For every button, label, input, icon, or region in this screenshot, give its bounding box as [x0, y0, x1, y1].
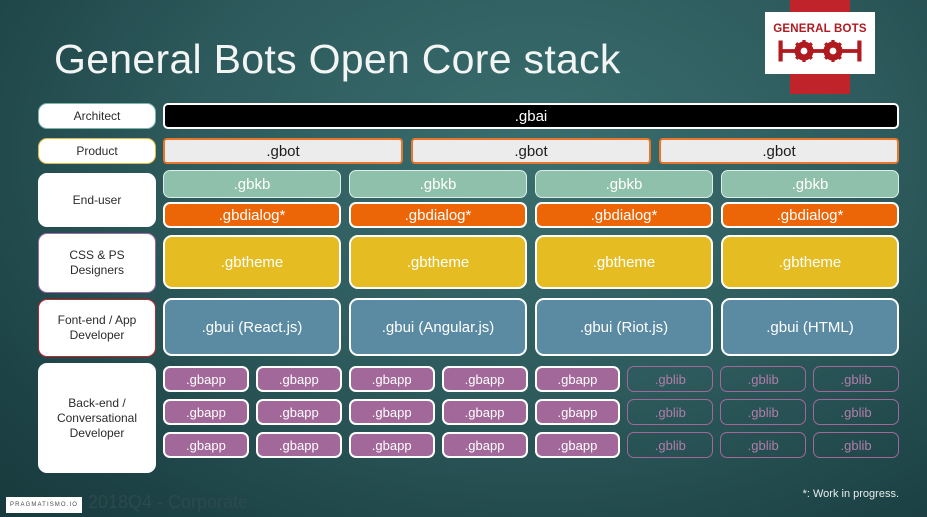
- gblib-cell-r3-c7[interactable]: .gblib: [720, 432, 806, 458]
- gblib-cell-r1-c8[interactable]: .gblib: [813, 366, 899, 392]
- gbtheme-cell-1[interactable]: .gbtheme: [163, 235, 341, 289]
- gbapp-cell-r3-c3[interactable]: .gbapp: [349, 432, 435, 458]
- gbui-cell-2[interactable]: .gbui (Angular.js): [349, 298, 527, 356]
- gbkb-cell-2[interactable]: .gbkb: [349, 170, 527, 198]
- gblib-cell-r2-c8[interactable]: .gblib: [813, 399, 899, 425]
- gbapp-cell-r3-c1[interactable]: .gbapp: [163, 432, 249, 458]
- gbapp-cell-r3-c5[interactable]: .gbapp: [535, 432, 621, 458]
- pragmatismo-wordmark: PRAGMATISMO.IO: [10, 502, 78, 508]
- gbtheme-cell-2[interactable]: .gbtheme: [349, 235, 527, 289]
- gbapp-cell-r1-c4[interactable]: .gbapp: [442, 366, 528, 392]
- gbtheme-cell-4[interactable]: .gbtheme: [721, 235, 899, 289]
- footer-caption: 2018Q4 - Corporate: [88, 492, 248, 513]
- role-label-3: End-user: [38, 173, 156, 227]
- role-label-5: Font-end / AppDeveloper: [38, 299, 156, 357]
- stack-diagram: ArchitectProductEnd-userCSS & PSDesigner…: [0, 0, 927, 517]
- role-label-1: Architect: [38, 103, 156, 129]
- gbkb-cell-4[interactable]: .gbkb: [721, 170, 899, 198]
- gbot-cell-2[interactable]: .gbot: [411, 138, 651, 164]
- gbapp-cell-r3-c4[interactable]: .gbapp: [442, 432, 528, 458]
- gbot-cell-3[interactable]: .gbot: [659, 138, 899, 164]
- gbdialog-cell-1[interactable]: .gbdialog*: [163, 202, 341, 228]
- gblib-cell-r3-c6[interactable]: .gblib: [627, 432, 713, 458]
- gbui-cell-1[interactable]: .gbui (React.js): [163, 298, 341, 356]
- gbui-cell-4[interactable]: .gbui (HTML): [721, 298, 899, 356]
- role-label-4: CSS & PSDesigners: [38, 233, 156, 293]
- gblib-cell-r1-c7[interactable]: .gblib: [720, 366, 806, 392]
- gbtheme-cell-3[interactable]: .gbtheme: [535, 235, 713, 289]
- role-label-6: Back-end /ConversationalDeveloper: [38, 363, 156, 473]
- gbapp-cell-r2-c1[interactable]: .gbapp: [163, 399, 249, 425]
- gbapp-cell-r2-c2[interactable]: .gbapp: [256, 399, 342, 425]
- gbapp-cell-r3-c2[interactable]: .gbapp: [256, 432, 342, 458]
- gblib-cell-r3-c8[interactable]: .gblib: [813, 432, 899, 458]
- gbapp-cell-r1-c2[interactable]: .gbapp: [256, 366, 342, 392]
- gbapp-cell-r1-c5[interactable]: .gbapp: [535, 366, 621, 392]
- gbdialog-cell-3[interactable]: .gbdialog*: [535, 202, 713, 228]
- gblib-cell-r2-c7[interactable]: .gblib: [720, 399, 806, 425]
- slide-canvas: GENERAL BOTS: [0, 0, 927, 517]
- gbui-cell-3[interactable]: .gbui (Riot.js): [535, 298, 713, 356]
- gbdialog-cell-4[interactable]: .gbdialog*: [721, 202, 899, 228]
- gbot-cell-1[interactable]: .gbot: [163, 138, 403, 164]
- gbapp-cell-r2-c5[interactable]: .gbapp: [535, 399, 621, 425]
- gbkb-cell-3[interactable]: .gbkb: [535, 170, 713, 198]
- gbapp-cell-r2-c3[interactable]: .gbapp: [349, 399, 435, 425]
- pragmatismo-logo: PRAGMATISMO.IO: [6, 497, 82, 513]
- gbapp-cell-r2-c4[interactable]: .gbapp: [442, 399, 528, 425]
- gbapp-cell-r1-c3[interactable]: .gbapp: [349, 366, 435, 392]
- gbai-cell-1[interactable]: .gbai: [163, 103, 899, 129]
- gbdialog-cell-2[interactable]: .gbdialog*: [349, 202, 527, 228]
- work-in-progress-note: *: Work in progress.: [803, 488, 899, 500]
- gbkb-cell-1[interactable]: .gbkb: [163, 170, 341, 198]
- gblib-cell-r1-c6[interactable]: .gblib: [627, 366, 713, 392]
- gbapp-cell-r1-c1[interactable]: .gbapp: [163, 366, 249, 392]
- gblib-cell-r2-c6[interactable]: .gblib: [627, 399, 713, 425]
- role-label-2: Product: [38, 138, 156, 164]
